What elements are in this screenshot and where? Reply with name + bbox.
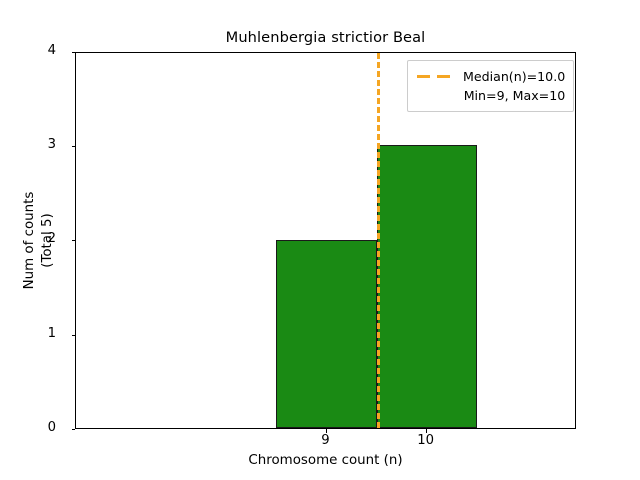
x-tick-label-9: 9: [321, 433, 329, 448]
legend-entry-minmax: Min=9, Max=10: [416, 86, 565, 105]
bar-9: [276, 240, 376, 429]
y-axis-label: Num of counts (Total 5): [22, 52, 56, 429]
median-line: [377, 53, 380, 428]
legend-entry-median: Median(n)=10.0: [416, 67, 565, 86]
x-tick-mark-10: [426, 429, 427, 433]
legend-label-median: Median(n)=10.0: [463, 69, 565, 84]
chart-title: Muhlenbergia strictior Beal: [75, 29, 576, 46]
legend: Median(n)=10.0 Min=9, Max=10: [407, 60, 574, 112]
bar-10: [377, 145, 477, 428]
x-tick-mark-9: [326, 429, 327, 433]
x-axis-label: Chromosome count (n): [75, 453, 576, 468]
y-axis-label-text: Num of counts (Total 5): [21, 192, 56, 290]
y-tick-mark-0: [72, 429, 76, 430]
dashed-line-icon: [416, 71, 454, 83]
chart-figure: Muhlenbergia strictior Beal 4 3 2 1 0 Nu…: [0, 0, 640, 480]
legend-label-minmax: Min=9, Max=10: [464, 88, 566, 103]
x-tick-label-10: 10: [417, 433, 434, 448]
